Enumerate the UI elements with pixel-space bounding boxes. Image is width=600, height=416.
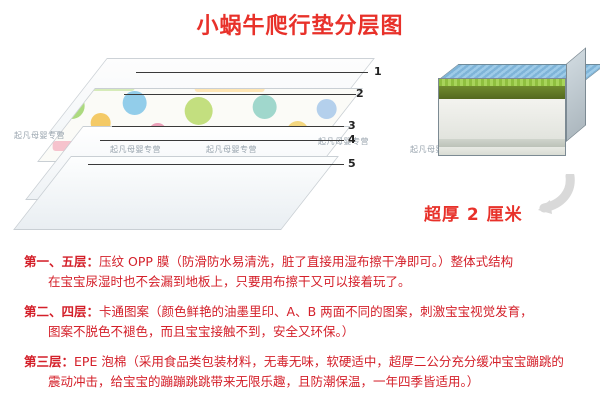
callout-number-1: 1 (374, 65, 382, 78)
watermark: 起凡母婴专营 (110, 144, 161, 155)
watermark: 起凡母婴专营 (318, 136, 369, 147)
description-paragraph-1: 第一、五层：压纹 OPP 膜（防滑防水易清洗，脏了直接用湿布擦干净即可。）整体式… (24, 252, 580, 292)
description-paragraph-2: 第二、四层：卡通图案（颜色鲜艳的油墨里印、A、B 两面不同的图案，刺激宝宝视觉发… (24, 302, 580, 342)
leader-line-5 (88, 164, 344, 165)
paragraph-1-body: 压纹 OPP 膜（防滑防水易清洗，脏了直接用湿布擦干净即可。）整体式结构 (99, 254, 513, 269)
paragraph-3-lead: 第三层： (24, 354, 74, 369)
thickness-label: 超厚 2 厘米 (424, 200, 523, 225)
watermark: 起凡母婴专营 (14, 130, 65, 141)
cross-section-band-4 (439, 139, 565, 147)
paragraph-2-body-2: 图案不脱色不褪色，而且宝宝接触不到，安全又环保。） (24, 322, 580, 342)
callout-number-4: 4 (348, 133, 356, 146)
paragraph-3-body-2: 震动冲击，给宝宝的蹦蹦跳跳带来无限乐趣，且防潮保温，一年四季皆适用。） (24, 372, 580, 392)
callout-number-2: 2 (356, 87, 364, 100)
paragraph-1-body-2: 在宝宝尿湿时也不会漏到地板上，只要用布擦干又可以接着玩了。 (24, 272, 580, 292)
description-block: 第一、五层：压纹 OPP 膜（防滑防水易清洗，脏了直接用湿布擦干净即可。）整体式… (24, 252, 580, 402)
curved-arrow-icon (520, 174, 576, 214)
cross-section-band-1 (439, 79, 565, 86)
callout-number-5: 5 (348, 157, 356, 170)
cross-section-face (438, 78, 566, 156)
layer-diagram: 起凡母婴专营 起凡母婴专营 起凡母婴专营 起凡母婴专营 起凡母婴专营 起凡母婴专… (0, 48, 600, 240)
leader-line-3 (112, 126, 344, 127)
cross-section-band-5 (439, 147, 565, 156)
cross-section-side (566, 47, 586, 142)
cross-section-band-2 (439, 86, 565, 99)
page-title: 小蜗牛爬行垫分层图 (0, 8, 600, 40)
leader-line-1 (136, 72, 368, 73)
watermark: 起凡母婴专营 (206, 144, 257, 155)
leader-line-4 (100, 140, 344, 141)
mat-layer-4 (13, 156, 339, 230)
cross-section-band-3 (439, 99, 565, 139)
cross-section-block (438, 64, 586, 160)
infographic-page: 小蜗牛爬行垫分层图 (0, 0, 600, 416)
callout-number-3: 3 (348, 119, 356, 132)
paragraph-2-body: 卡通图案（颜色鲜艳的油墨里印、A、B 两面不同的图案，刺激宝宝视觉发育， (99, 304, 533, 319)
paragraph-1-lead: 第一、五层： (24, 254, 99, 269)
description-paragraph-3: 第三层：EPE 泡棉（采用食品类包装材料，无毒无味，软硬适中，超厚二公分充分缓冲… (24, 352, 580, 392)
leader-line-2 (124, 94, 356, 95)
paragraph-2-lead: 第二、四层： (24, 304, 99, 319)
paragraph-3-body: EPE 泡棉（采用食品类包装材料，无毒无味，软硬适中，超厚二公分充分缓冲宝宝蹦跳… (74, 354, 564, 369)
